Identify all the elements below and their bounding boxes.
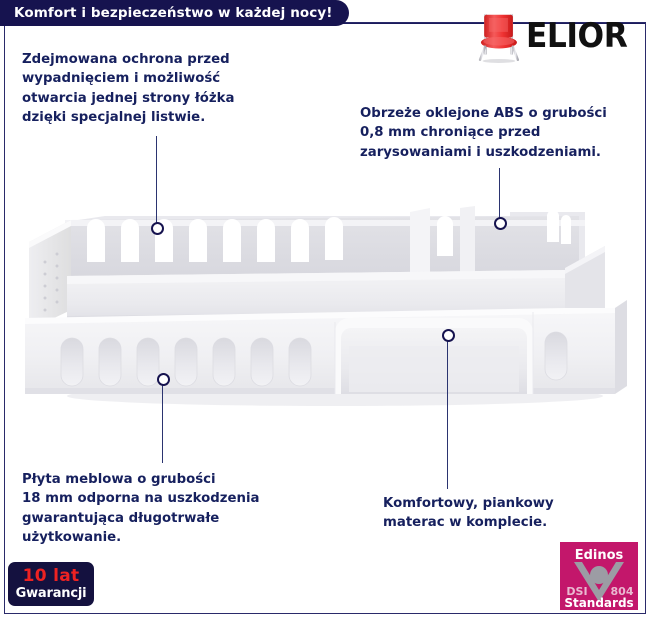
edinos-badge-graphic: Edinos DSI 804 Standards bbox=[560, 542, 638, 610]
edinos-title: Edinos bbox=[575, 548, 624, 563]
brand-name: ELIOR bbox=[526, 19, 627, 53]
edinos-standards: Standards bbox=[564, 596, 633, 610]
callout-marker-top-left bbox=[151, 222, 164, 235]
header-banner-label: Komfort i bezpieczeństwo w każdej nocy! bbox=[14, 5, 333, 21]
warranty-badge-label: Gwarancji bbox=[16, 587, 87, 600]
callout-text-bottom-center: Komfortowy, piankowy materac w komplecie… bbox=[383, 494, 633, 533]
brand-logo: ELIOR bbox=[476, 2, 636, 70]
red-chair-icon bbox=[476, 3, 522, 69]
leader-line-top-right bbox=[499, 168, 500, 224]
white-toddler-bed-illustration bbox=[5, 150, 645, 420]
callout-marker-bottom-left bbox=[157, 373, 170, 386]
callout-marker-top-right bbox=[494, 217, 507, 230]
leader-line-bottom-left bbox=[162, 385, 163, 463]
callout-marker-bottom-center bbox=[442, 329, 455, 342]
product-image bbox=[5, 150, 645, 420]
callout-text-top-left: Zdejmowana ochrona przed wypadnięciem i … bbox=[22, 50, 292, 127]
edinos-standards-badge: Edinos DSI 804 Standards bbox=[560, 542, 638, 610]
header-banner: Komfort i bezpieczeństwo w każdej nocy! bbox=[0, 0, 349, 26]
warranty-badge: 10 lat Gwarancji bbox=[8, 562, 94, 606]
leader-line-bottom-center bbox=[447, 341, 448, 489]
leader-line-top-left bbox=[156, 136, 157, 224]
callout-text-top-right: Obrzeże oklejone ABS o grubości 0,8 mm c… bbox=[360, 104, 640, 162]
infographic-page: Komfort i bezpieczeństwo w każdej nocy! bbox=[0, 0, 650, 620]
callout-text-bottom-left: Płyta meblowa o grubości 18 mm odporna n… bbox=[22, 470, 302, 547]
warranty-badge-years: 10 lat bbox=[23, 568, 80, 585]
